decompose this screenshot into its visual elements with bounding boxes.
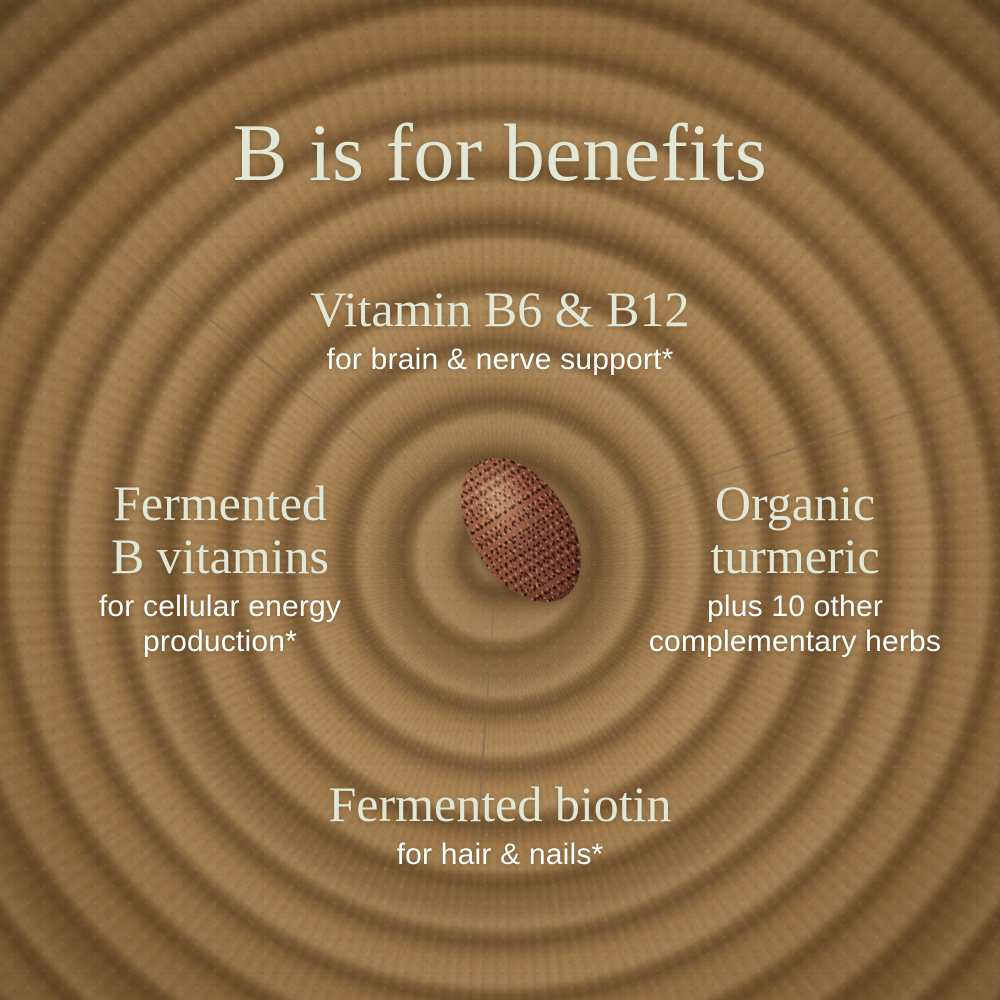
benefit-heading-line-1: Fermented [26,477,414,530]
page-title: B is for benefits [0,112,1000,194]
benefit-heading-line-2: turmeric [600,530,990,583]
benefit-subtext-line-2: production* [26,625,414,660]
benefit-subtext: for brain & nerve support* [200,343,800,378]
benefit-subtext-line-1: for cellular energy [26,590,414,625]
benefit-vitamin-b6-b12: Vitamin B6 & B12 for brain & nerve suppo… [200,283,800,378]
tablet-shape [411,420,631,640]
benefit-subtext: for hair & nails* [200,838,800,873]
benefit-heading: Vitamin B6 & B12 [200,283,800,336]
supplement-tablet [424,446,616,614]
benefit-organic-turmeric: Organic turmeric plus 10 other complemen… [600,477,990,660]
benefit-heading-line-1: Organic [600,477,990,530]
benefit-heading: Organic turmeric [600,477,990,583]
promo-graphic: B is for benefits Vitamin B6 & B12 for b… [0,0,1000,1000]
benefit-subtext-line-2: complementary herbs [600,625,990,660]
benefit-heading: Fermented biotin [200,778,800,831]
benefit-fermented-biotin: Fermented biotin for hair & nails* [200,778,800,873]
benefit-subtext: plus 10 other complementary herbs [600,590,990,660]
benefit-subtext: for cellular energy production* [26,590,414,660]
benefit-heading: Fermented B vitamins [26,477,414,583]
benefit-subtext-line-1: plus 10 other [600,590,990,625]
benefit-heading-line-2: B vitamins [26,530,414,583]
benefit-fermented-b-vitamins: Fermented B vitamins for cellular energy… [26,477,414,660]
